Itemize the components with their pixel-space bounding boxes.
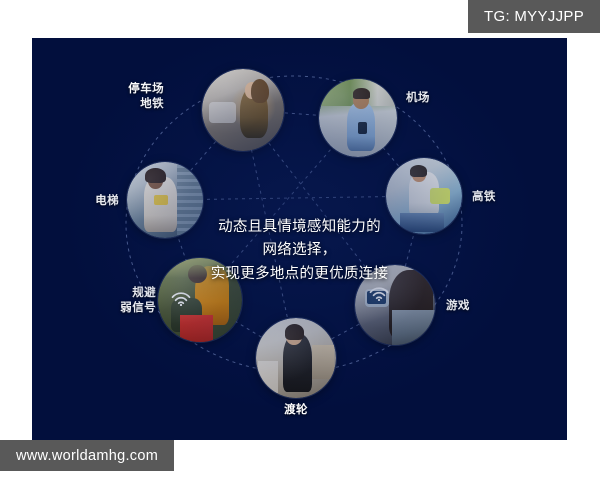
- node-label-ferry: 渡轮: [261, 403, 331, 418]
- node-label-airport: 机场: [406, 91, 476, 106]
- site-watermark: www.worldamhg.com: [0, 440, 174, 471]
- node-label-gaming: 游戏: [446, 299, 516, 314]
- node-label-high-speed-rail: 高铁: [472, 190, 542, 205]
- node-label-elevator: 电梯: [73, 194, 119, 209]
- center-headline: 动态且具情境感知能力的 网络选择， 实现更多地点的更优质连接: [185, 216, 415, 286]
- photo-parking-subway: [202, 69, 284, 151]
- center-headline-line-3: 实现更多地点的更优质连接: [185, 263, 415, 286]
- photo-node-ferry[interactable]: [256, 318, 336, 398]
- center-headline-line-1: 动态且具情境感知能力的: [185, 216, 415, 239]
- telegram-handle-badge: TG: MYYJJPP: [468, 0, 600, 33]
- center-headline-line-2: 网络选择，: [185, 239, 415, 262]
- photo-airport: [319, 79, 397, 157]
- node-label-weak-signal: 规避 弱信号: [104, 286, 156, 315]
- node-label-parking-subway: 停车场 地铁: [90, 82, 164, 111]
- photo-node-parking-subway[interactable]: [202, 69, 284, 151]
- photo-ferry: [256, 318, 336, 398]
- photo-node-airport[interactable]: [319, 79, 397, 157]
- slide-canvas: 停车场 地铁 机场 高铁: [32, 38, 567, 440]
